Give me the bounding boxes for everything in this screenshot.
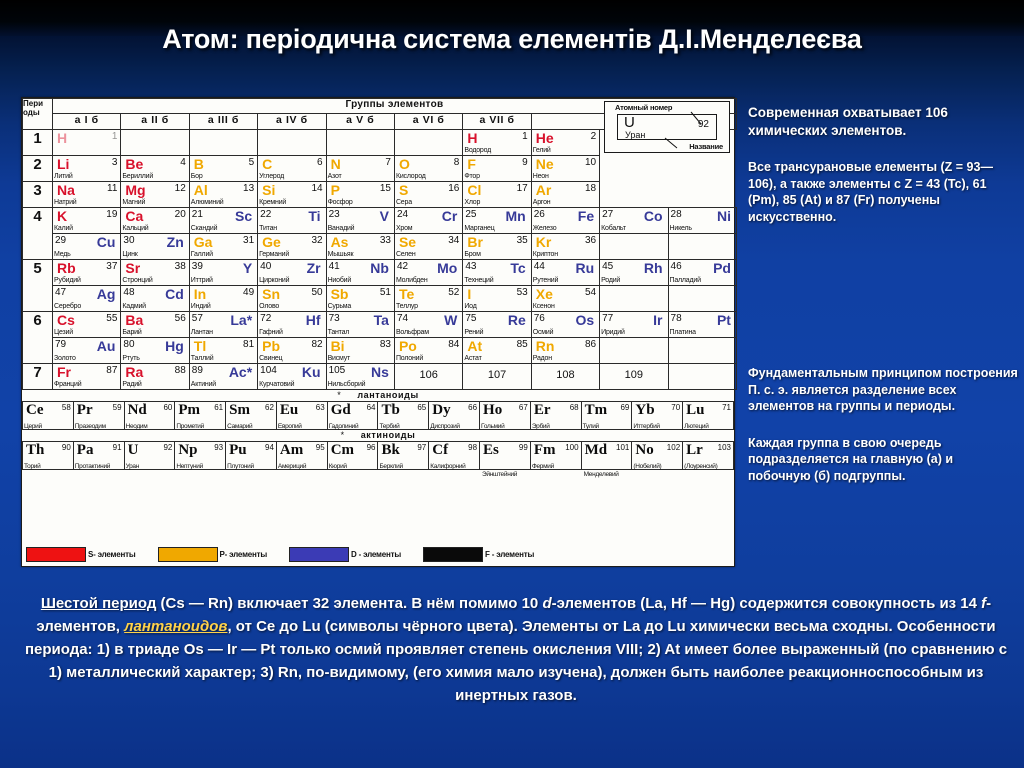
element-name: Свинец — [259, 355, 282, 363]
element-number: 59 — [113, 403, 122, 412]
element-name: Полоний — [396, 355, 423, 363]
element-cell[interactable]: 107 — [463, 364, 531, 390]
element-cell[interactable]: Rb37Рубидий — [53, 260, 121, 286]
element-symbol: Ne — [536, 157, 554, 171]
element-number: 62 — [265, 403, 274, 412]
bottom-lead: Шестой период — [41, 595, 157, 612]
side-paragraph-3: Фундаментальным принципом построения П. … — [748, 365, 1018, 415]
element-cell[interactable]: 108 — [531, 364, 599, 390]
element-number: 15 — [380, 184, 391, 194]
element-cell[interactable]: Fe26Железо — [531, 208, 599, 234]
element-number: 47 — [55, 288, 66, 298]
element-number: 38 — [175, 262, 186, 272]
element-symbol: Co — [644, 209, 663, 223]
element-symbol: Au — [97, 339, 116, 353]
element-cell[interactable]: H1Водород — [463, 130, 531, 156]
element-number: 14 — [311, 184, 322, 194]
element-cell[interactable]: Ni28Никель — [668, 208, 736, 234]
element-number: 54 — [585, 288, 596, 298]
element-name: Аргон — [533, 199, 551, 207]
element-name: Сера — [396, 199, 412, 207]
f-element-cell[interactable]: Pa91Протактиний — [73, 442, 124, 470]
element-number: 102 — [667, 443, 680, 452]
group-label-4: a IV б — [258, 114, 326, 130]
group-label-2: a II б — [121, 114, 189, 130]
element-symbol: Nd — [128, 402, 147, 419]
element-symbol: I — [467, 287, 471, 301]
element-cell[interactable]: Zn30Цинк — [121, 234, 189, 260]
f-element-cell[interactable]: Lu71Лютеций — [683, 402, 734, 430]
element-symbol: Ta — [374, 313, 389, 327]
element-cell[interactable]: Cl17Хлор — [463, 182, 531, 208]
element-name: Платина — [670, 329, 696, 337]
element-cell[interactable]: Fr87Франций — [53, 364, 121, 390]
element-name: Радон — [533, 355, 552, 363]
element-number: 52 — [448, 288, 459, 298]
element-name: Эрбий — [532, 423, 550, 430]
element-symbol: Re — [508, 313, 526, 327]
f-element-cell[interactable]: Fm100Фермий — [530, 442, 581, 470]
element-number: 64 — [367, 403, 376, 412]
element-name: Индий — [191, 303, 211, 311]
element-cell[interactable]: Si14Кремний — [258, 182, 326, 208]
element-name: Неодим — [126, 423, 148, 430]
element-number: 43 — [465, 262, 476, 272]
legend-label: D - элементы — [351, 550, 401, 559]
element-symbol: Ho — [483, 402, 502, 419]
element-cell[interactable]: Mg12Магний — [121, 182, 189, 208]
element-cell[interactable]: Ar18Аргон — [531, 182, 599, 208]
bottom-seg-1: (Cs — Rn) включает 32 элемента. В нём по… — [156, 595, 542, 612]
element-cell[interactable]: Pd46Палладий — [668, 260, 736, 286]
element-cell[interactable]: Co27Кобальт — [600, 208, 668, 234]
element-cell[interactable]: Cs55Цезий — [53, 312, 121, 338]
element-symbol: Li — [57, 157, 69, 171]
element-name: Кислород — [396, 173, 426, 181]
element-number: 12 — [175, 184, 186, 194]
element-symbol: Ar — [536, 183, 552, 197]
element-number: 4 — [180, 158, 186, 168]
element-number: 91 — [113, 443, 122, 452]
group-label-1: a I б — [53, 114, 121, 130]
element-name: Лантан — [191, 329, 213, 337]
element-symbol: Hf — [306, 313, 321, 327]
legend-colour-swatch — [289, 547, 349, 562]
element-name: Диспрозий — [430, 423, 460, 430]
element-symbol: Gd — [331, 402, 351, 419]
element-number: 1 — [522, 132, 528, 142]
element-cell[interactable]: F9Фтор — [463, 156, 531, 182]
element-cell[interactable]: 109 — [600, 364, 668, 390]
element-cell[interactable]: Os76Осмий — [531, 312, 599, 338]
f-element-cell[interactable]: Md101Менделевий — [581, 442, 632, 470]
element-name: Ртуть — [122, 355, 139, 363]
f-element-cell[interactable]: Bk97Берклий — [378, 442, 429, 470]
element-number: 77 — [602, 314, 613, 324]
element-name: Гольмий — [481, 423, 504, 430]
element-number: 45 — [602, 262, 613, 272]
empty-cell — [668, 286, 736, 312]
bottom-paragraph: Шестой период (Cs — Rn) включает 32 элем… — [22, 592, 1010, 707]
element-name: Стронций — [122, 277, 152, 285]
element-cell[interactable]: Te52Теллур — [394, 286, 462, 312]
element-cell[interactable]: Pb82Свинец — [258, 338, 326, 364]
element-cell[interactable]: Ga31Галлий — [189, 234, 257, 260]
element-symbol: Er — [534, 402, 551, 419]
period-number: 5 — [23, 260, 53, 312]
bottom-seg-2: -элементов (La, Hf — Hg) содержится сово… — [552, 595, 982, 612]
element-symbol: K — [57, 209, 67, 223]
table-row: 7Fr87ФранцийRa88РадийAc*89АктинийKu104Ку… — [23, 364, 737, 390]
element-number: 100 — [565, 443, 578, 452]
element-number: 36 — [585, 236, 596, 246]
element-number: 49 — [243, 288, 254, 298]
element-name: Церий — [24, 423, 42, 430]
element-symbol: O — [399, 157, 410, 171]
element-cell[interactable]: Ac*89Актиний — [189, 364, 257, 390]
element-cell[interactable]: Ag47Серебро — [53, 286, 121, 312]
element-name: Франций — [54, 381, 81, 389]
element-name: Ванадий — [328, 225, 355, 233]
element-number: 3 — [112, 158, 118, 168]
element-name: Рутений — [533, 277, 558, 285]
element-cell[interactable]: Cd48Кадмий — [121, 286, 189, 312]
element-number: 81 — [243, 340, 254, 350]
element-cell[interactable]: V23Ванадий — [326, 208, 394, 234]
element-symbol: Tm — [585, 402, 608, 419]
lanthanides-series-label: *лантаноиды — [22, 390, 734, 401]
element-cell[interactable]: Nb41Ниобий — [326, 260, 394, 286]
element-cell[interactable]: Cu29Медь — [53, 234, 121, 260]
f-element-cell[interactable]: Np93Нептуний — [175, 442, 226, 470]
element-symbol: Sr — [125, 261, 140, 275]
element-number: 28 — [671, 210, 682, 220]
element-symbol: Pu — [229, 442, 247, 459]
element-cell[interactable]: In49Индий — [189, 286, 257, 312]
element-cell[interactable]: O8Кислород — [394, 156, 462, 182]
f-element-cell[interactable]: Es99Эйнштейний — [480, 442, 531, 470]
element-cell[interactable]: Se34Селен — [394, 234, 462, 260]
element-cell[interactable]: Pt78Платина — [668, 312, 736, 338]
period-number: 4 — [23, 208, 53, 260]
period-number: 2 — [23, 156, 53, 182]
element-number: 55 — [106, 314, 117, 324]
element-symbol: Pt — [717, 313, 731, 327]
element-number: 80 — [123, 340, 134, 350]
period-number: 6 — [23, 312, 53, 364]
element-name: Азот — [328, 173, 342, 181]
legend-label: F - элементы — [485, 550, 534, 559]
element-cell[interactable]: Sr38Стронций — [121, 260, 189, 286]
element-name: Европий — [278, 423, 302, 430]
element-cell[interactable]: Hg80Ртуть — [121, 338, 189, 364]
lanthanoids-link[interactable]: лантаноидов — [124, 618, 227, 635]
element-cell[interactable]: Re75Рений — [463, 312, 531, 338]
element-cell[interactable]: W74Вольфрам — [394, 312, 462, 338]
f-element-cell[interactable]: Ho67Гольмий — [480, 402, 531, 430]
element-symbol: Ac* — [229, 365, 252, 379]
side-paragraph-4: Каждая группа в свою очередь подразделяе… — [748, 435, 1018, 485]
legend-colour-swatch — [158, 547, 218, 562]
bottom-italic-d: d — [542, 595, 551, 612]
element-cell[interactable]: Kr36Криптон — [531, 234, 599, 260]
element-cell[interactable]: Al13Алюминий — [189, 182, 257, 208]
element-cell[interactable]: As33Мышьяк — [326, 234, 394, 260]
element-cell[interactable]: Ti22Титан — [258, 208, 326, 234]
element-name: Уран — [126, 463, 139, 470]
element-symbol: Bi — [331, 339, 345, 353]
element-symbol: Lu — [686, 402, 704, 419]
lanthanides-row: Ce58ЦерийPr59ПразеодимNd60НеодимPm61Пром… — [22, 401, 734, 430]
element-cell[interactable]: Ta73Тантал — [326, 312, 394, 338]
element-cell[interactable]: Li3Литий — [53, 156, 121, 182]
element-symbol: H — [57, 131, 67, 145]
element-cell[interactable]: C6Углерод — [258, 156, 326, 182]
element-cell[interactable]: Cr24Хром — [394, 208, 462, 234]
f-element-cell[interactable]: Gd64Гадолиний — [327, 402, 378, 430]
element-name: Америций — [278, 463, 306, 470]
element-name: Фосфор — [328, 199, 353, 207]
element-symbol: Mo — [437, 261, 457, 275]
element-name: Фермий — [532, 463, 554, 470]
element-number: 34 — [448, 236, 459, 246]
legend-label: S- элементы — [88, 550, 136, 559]
element-cell[interactable]: Bi83Висмут — [326, 338, 394, 364]
element-number: 86 — [585, 340, 596, 350]
element-cell[interactable]: Sb51Сурьма — [326, 286, 394, 312]
element-number: 73 — [329, 314, 340, 324]
f-element-cell[interactable]: Am95Америций — [276, 442, 327, 470]
element-symbol: V — [380, 209, 389, 223]
element-symbol: Ca — [125, 209, 143, 223]
element-name: Астат — [464, 355, 481, 363]
empty-cell — [326, 130, 394, 156]
element-cell[interactable]: Zr40Цирконий — [258, 260, 326, 286]
element-name: (Лоуренсий) — [684, 463, 717, 470]
element-cell[interactable]: K19Калий — [53, 208, 121, 234]
element-symbol: Y — [243, 261, 252, 275]
element-number: 58 — [62, 403, 71, 412]
element-name: Нильсборий — [328, 381, 366, 389]
element-cell[interactable]: Br35Бром — [463, 234, 531, 260]
element-name: Иттрий — [191, 277, 213, 285]
element-number: 31 — [243, 236, 254, 246]
element-cell[interactable]: H1 — [53, 130, 121, 156]
element-cell[interactable]: Ra88Радий — [121, 364, 189, 390]
element-symbol: P — [331, 183, 340, 197]
element-symbol: He — [536, 131, 554, 145]
element-name: Кюрий — [329, 463, 347, 470]
element-cell[interactable]: Hf72Гафний — [258, 312, 326, 338]
element-number: 7 — [385, 158, 391, 168]
f-element-cell[interactable]: Yb70Иттербий — [632, 402, 683, 430]
f-element-cell[interactable]: Dy66Диспрозий — [429, 402, 480, 430]
f-element-cell[interactable]: Ce58Церий — [23, 402, 74, 430]
f-element-cell[interactable]: Pm61Прометий — [175, 402, 226, 430]
page-title: Атом: періодична система елементів Д.І.М… — [0, 24, 1024, 55]
element-name: Литий — [54, 173, 73, 181]
element-symbol: Ir — [653, 313, 662, 327]
f-element-cell[interactable]: Cf98Калифорний — [429, 442, 480, 470]
element-number: 27 — [602, 210, 613, 220]
element-name: Цинк — [122, 251, 137, 259]
element-symbol: Ra — [125, 365, 143, 379]
element-name: Углерод — [259, 173, 284, 181]
empty-cell — [668, 338, 736, 364]
element-name: Криптон — [533, 251, 558, 259]
element-number: 10 — [585, 158, 596, 168]
side-paragraph-2: Все трансурановые елементы (Z = 93—106),… — [748, 159, 1018, 225]
element-symbol: Hg — [165, 339, 184, 353]
element-name: Протактиний — [75, 463, 110, 470]
table-row: Cu29МедьZn30ЦинкGa31ГаллийGe32ГерманийAs… — [23, 234, 737, 260]
element-cell[interactable]: Ge32Германий — [258, 234, 326, 260]
element-number: 94 — [265, 443, 274, 452]
element-name: Палладий — [670, 277, 701, 285]
element-name: Галлий — [191, 251, 213, 259]
element-symbol: Pm — [178, 402, 200, 419]
element-name: Самарий — [227, 423, 252, 430]
element-cell[interactable]: S16Сера — [394, 182, 462, 208]
element-number: 93 — [214, 443, 223, 452]
element-cell[interactable]: 106 — [394, 364, 462, 390]
f-element-cell[interactable]: Pr59Празеодим — [73, 402, 124, 430]
element-cell[interactable]: Mn25Марганец — [463, 208, 531, 234]
element-name: Радий — [122, 381, 141, 389]
element-number: 26 — [534, 210, 545, 220]
element-cell[interactable]: Be4Бериллий — [121, 156, 189, 182]
element-cell[interactable]: Ru44Рутений — [531, 260, 599, 286]
element-number: 19 — [106, 210, 117, 220]
empty-cell — [668, 364, 736, 390]
f-element-cell[interactable]: Th90Торий — [23, 442, 74, 470]
element-name: (Нобелий) — [633, 463, 661, 470]
element-number: 69 — [620, 403, 629, 412]
element-cell[interactable]: Ku104Курчатовий — [258, 364, 326, 390]
element-symbol: Ga — [194, 235, 213, 249]
element-cell[interactable]: Na11Натрий — [53, 182, 121, 208]
element-name: Прометий — [176, 423, 204, 430]
empty-cell — [189, 130, 257, 156]
element-symbol: Cd — [165, 287, 184, 301]
element-number: 2 — [591, 132, 597, 142]
element-cell[interactable]: Au79Золото — [53, 338, 121, 364]
element-name: Магний — [122, 199, 145, 207]
f-element-cell[interactable]: Nd60Неодим — [124, 402, 175, 430]
element-cell[interactable]: Sn50Олово — [258, 286, 326, 312]
element-name: Бериллий — [122, 173, 153, 181]
element-cell[interactable]: He2Гелий — [531, 130, 599, 156]
element-symbol: Sm — [229, 402, 250, 419]
element-cell[interactable]: Y39Иттрий — [189, 260, 257, 286]
element-number: 8 — [454, 158, 460, 168]
empty-cell — [600, 234, 668, 260]
f-element-cell[interactable]: Sm62Самарий — [226, 402, 277, 430]
element-name: Курчатовий — [259, 381, 294, 389]
f-element-cell[interactable]: Tb65Тербий — [378, 402, 429, 430]
element-cell[interactable]: Xe54Ксенон — [531, 286, 599, 312]
element-symbol: C — [262, 157, 272, 171]
element-name: Тантал — [328, 329, 350, 337]
element-number: 107 — [463, 370, 530, 380]
element-cell[interactable]: Rn86Радон — [531, 338, 599, 364]
element-symbol: Be — [125, 157, 143, 171]
element-name: Теллур — [396, 303, 418, 311]
element-symbol: Ag — [97, 287, 116, 301]
element-symbol: Po — [399, 339, 417, 353]
element-name: Берклий — [379, 463, 402, 470]
periods-header-line2: оды — [23, 108, 40, 117]
element-number: 46 — [671, 262, 682, 272]
element-number: 98 — [468, 443, 477, 452]
f-element-cell[interactable]: Tm69Тулий — [581, 402, 632, 430]
element-symbol: Sb — [331, 287, 349, 301]
element-number: 37 — [106, 262, 117, 272]
element-cell[interactable]: La*57Лантан — [189, 312, 257, 338]
element-symbol: F — [467, 157, 476, 171]
f-element-cell[interactable]: Er68Эрбий — [530, 402, 581, 430]
legend-colour-swatch — [26, 547, 86, 562]
f-element-cell[interactable]: U92Уран — [124, 442, 175, 470]
element-cell[interactable]: P15Фосфор — [326, 182, 394, 208]
element-cell[interactable]: Rh45Родий — [600, 260, 668, 286]
f-element-cell[interactable]: Lr103(Лоуренсий) — [683, 442, 734, 470]
element-symbol: Ku — [302, 365, 321, 379]
slide-background: Атом: періодична система елементів Д.І.М… — [0, 0, 1024, 768]
element-symbol: At — [467, 339, 482, 353]
element-cell[interactable]: Sc21Скандий — [189, 208, 257, 234]
element-name: Плутоний — [227, 463, 254, 470]
element-number: 9 — [522, 158, 528, 168]
element-name: Молибден — [396, 277, 428, 285]
element-number: 1 — [112, 132, 118, 142]
element-cell[interactable]: Ir77Иридий — [600, 312, 668, 338]
f-element-cell[interactable]: Cm96Кюрий — [327, 442, 378, 470]
element-cell[interactable]: At85Астат — [463, 338, 531, 364]
element-cell[interactable]: I53Иод — [463, 286, 531, 312]
element-cell[interactable]: B5Бор — [189, 156, 257, 182]
element-name: Гафний — [259, 329, 283, 337]
element-symbol: Ru — [575, 261, 594, 275]
element-cell[interactable]: Ns105Нильсборий — [326, 364, 394, 390]
legend-colour-swatch — [423, 547, 483, 562]
element-symbol: B — [194, 157, 204, 171]
element-cell[interactable]: N7Азот — [326, 156, 394, 182]
element-cell[interactable]: Ba56Барий — [121, 312, 189, 338]
element-symbol: Ge — [262, 235, 281, 249]
f-element-cell[interactable]: Pu94Плутоний — [226, 442, 277, 470]
empty-cell — [600, 286, 668, 312]
element-number: 39 — [192, 262, 203, 272]
f-element-cell[interactable]: No102(Нобелий) — [632, 442, 683, 470]
element-name: Цирконий — [259, 277, 289, 285]
element-symbol: Sn — [262, 287, 280, 301]
element-symbol: Np — [178, 442, 197, 459]
element-number: 61 — [214, 403, 223, 412]
empty-cell — [668, 234, 736, 260]
element-name: Неон — [533, 173, 549, 181]
element-cell[interactable]: Mo42Молибден — [394, 260, 462, 286]
element-cell[interactable]: Po84Полоний — [394, 338, 462, 364]
element-cell[interactable]: Tc43Технеций — [463, 260, 531, 286]
f-element-cell[interactable]: Eu63Европий — [276, 402, 327, 430]
element-cell[interactable]: Ne10Неон — [531, 156, 599, 182]
element-cell[interactable]: Tl81Таллий — [189, 338, 257, 364]
element-number: 63 — [316, 403, 325, 412]
empty-cell — [258, 130, 326, 156]
element-number: 21 — [192, 210, 203, 220]
element-cell[interactable]: Ca20Кальций — [121, 208, 189, 234]
